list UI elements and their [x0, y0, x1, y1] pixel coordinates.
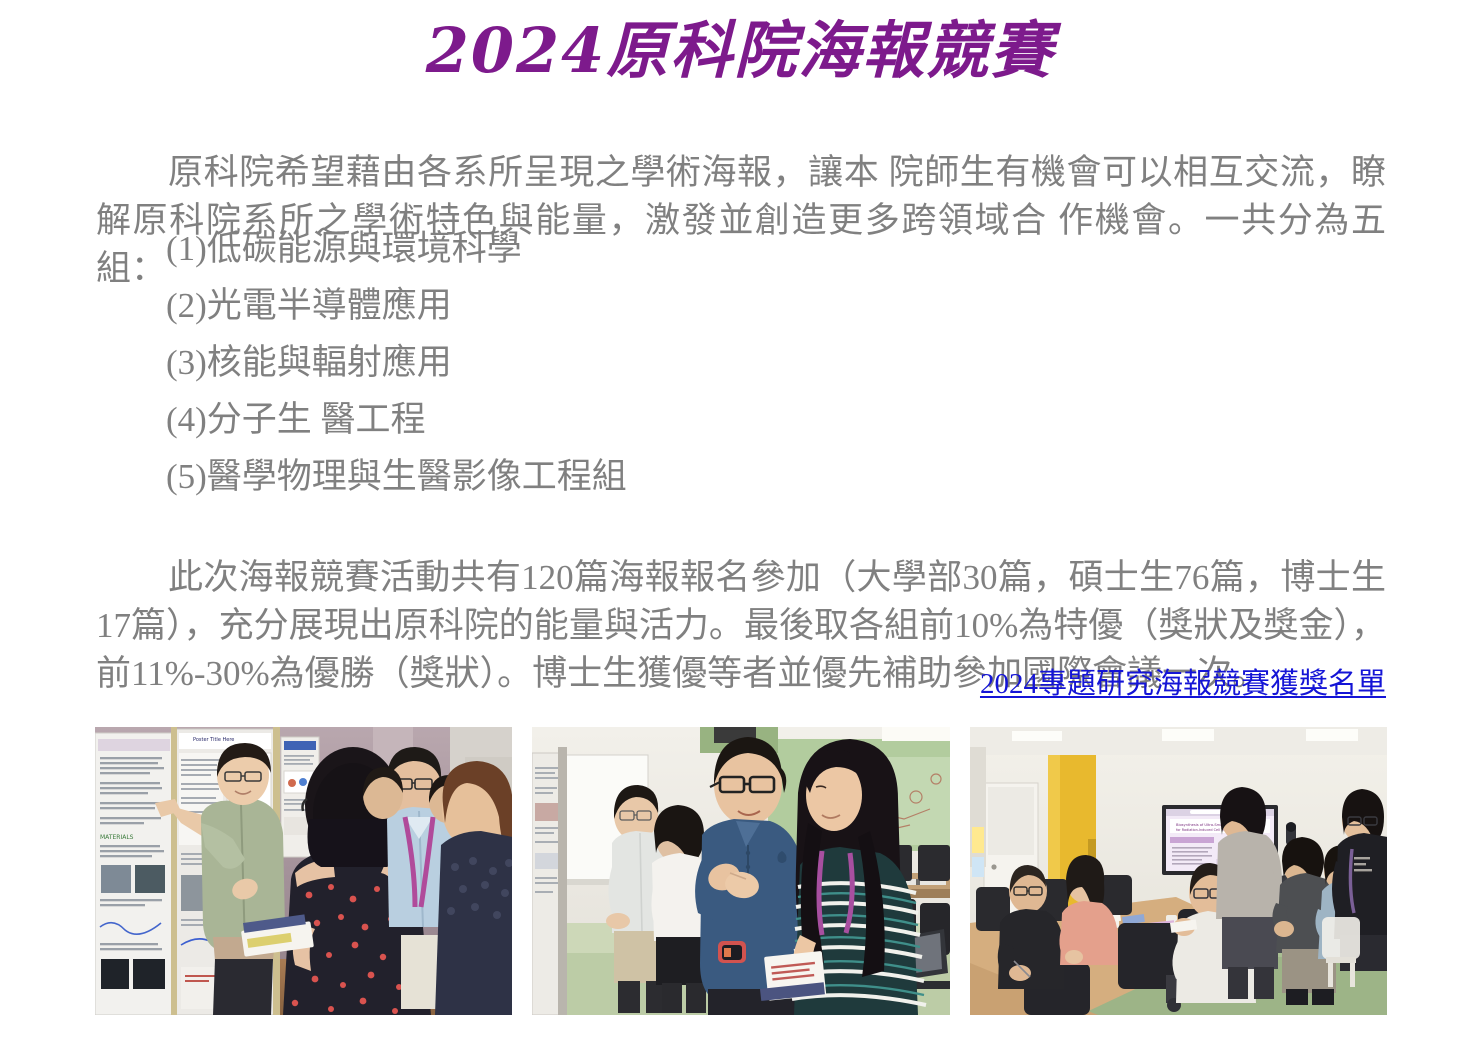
list-item: (2)光電半導體應用 [166, 277, 1366, 334]
list-item: (4)分子生 醫工程 [166, 391, 1366, 448]
group-list: (1)低碳能源與環境科學 (2)光電半導體應用 (3)核能與輻射應用 (4)分子… [166, 220, 1366, 505]
photo-3-illustration: Biosynthesis of Ultra-Small Probe for Ra… [970, 727, 1387, 1015]
svg-text:MATERIALS: MATERIALS [100, 834, 134, 841]
photo-conference-room-oral-presentation: Biosynthesis of Ultra-Small Probe for Ra… [970, 727, 1387, 1015]
photo-poster-presentation-student-pointing: MATERIALS Poster Title Here [95, 727, 512, 1015]
photo-1-illustration: MATERIALS Poster Title Here [95, 727, 512, 1015]
svg-text:Poster Title Here: Poster Title Here [193, 737, 234, 743]
photo-strip: MATERIALS Poster Title Here [95, 727, 1387, 1015]
photo-2-illustration [532, 727, 949, 1015]
award-link-row: 2024專題研究海報競賽獲獎名單 [0, 666, 1386, 702]
photo1-attendee-navy [435, 761, 512, 1015]
award-list-link[interactable]: 2024專題研究海報競賽獲獎名單 [980, 668, 1386, 700]
photo-poster-presentation-blue-polo [532, 727, 949, 1015]
list-item: (5)醫學物理與生醫影像工程組 [166, 448, 1366, 505]
list-item: (3)核能與輻射應用 [166, 334, 1366, 391]
list-item: (1)低碳能源與環境科學 [166, 220, 1366, 277]
page-title: 2024原科院海報競賽 [0, 12, 1480, 90]
